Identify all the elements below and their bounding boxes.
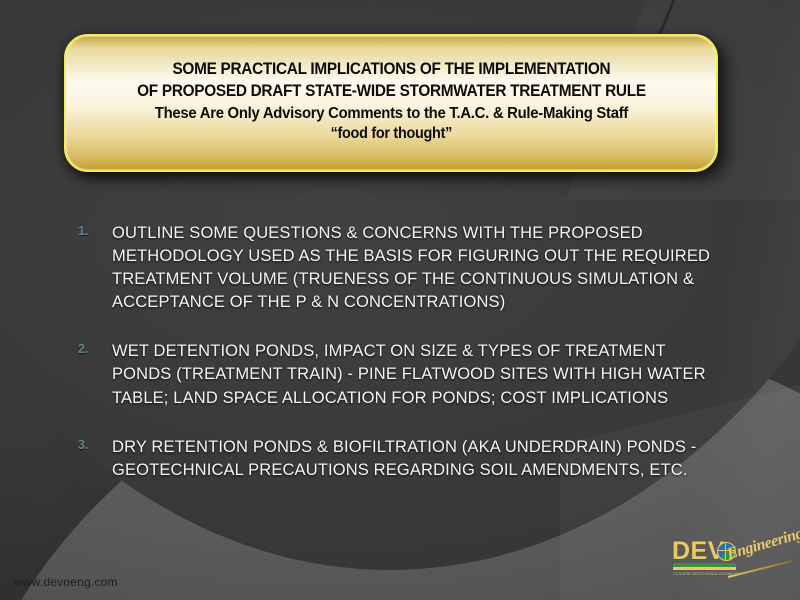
list-item-text: DRY RETENTION PONDS & BIOFILTRATION (AKA… [112,436,724,482]
title-line-4: “food for thought” [330,124,451,144]
title-line-3: These Are Only Advisory Comments to the … [154,103,627,124]
list-item-number: 1. [78,222,112,238]
title-line-2: OF PROPOSED DRAFT STATE-WIDE STORMWATER … [137,81,646,103]
list-item: 1. OUTLINE SOME QUESTIONS & CONCERNS WIT… [78,222,724,314]
numbered-list: 1. OUTLINE SOME QUESTIONS & CONCERNS WIT… [78,222,724,508]
title-line-1: SOME PRACTICAL IMPLICATIONS OF THE IMPLE… [172,59,610,81]
title-box: SOME PRACTICAL IMPLICATIONS OF THE IMPLE… [64,34,718,172]
logo-underline [728,560,793,578]
list-item-text: WET DETENTION PONDS, IMPACT ON SIZE & TY… [112,340,724,409]
list-item: 3. DRY RETENTION PONDS & BIOFILTRATION (… [78,436,724,482]
logo-bar-gold [673,567,736,570]
list-item-number: 2. [78,340,112,356]
list-item-number: 3. [78,436,112,452]
slide: SOME PRACTICAL IMPLICATIONS OF THE IMPLE… [0,0,800,600]
logo-bar-green [673,563,736,567]
company-logo: DEV CIVIL/SITE GEOTECHNICAL ENGINEERS En… [672,536,794,586]
website-url[interactable]: www.devoeng.com [14,575,118,589]
list-item-text: OUTLINE SOME QUESTIONS & CONCERNS WITH T… [112,222,724,314]
list-item: 2. WET DETENTION PONDS, IMPACT ON SIZE &… [78,340,724,409]
